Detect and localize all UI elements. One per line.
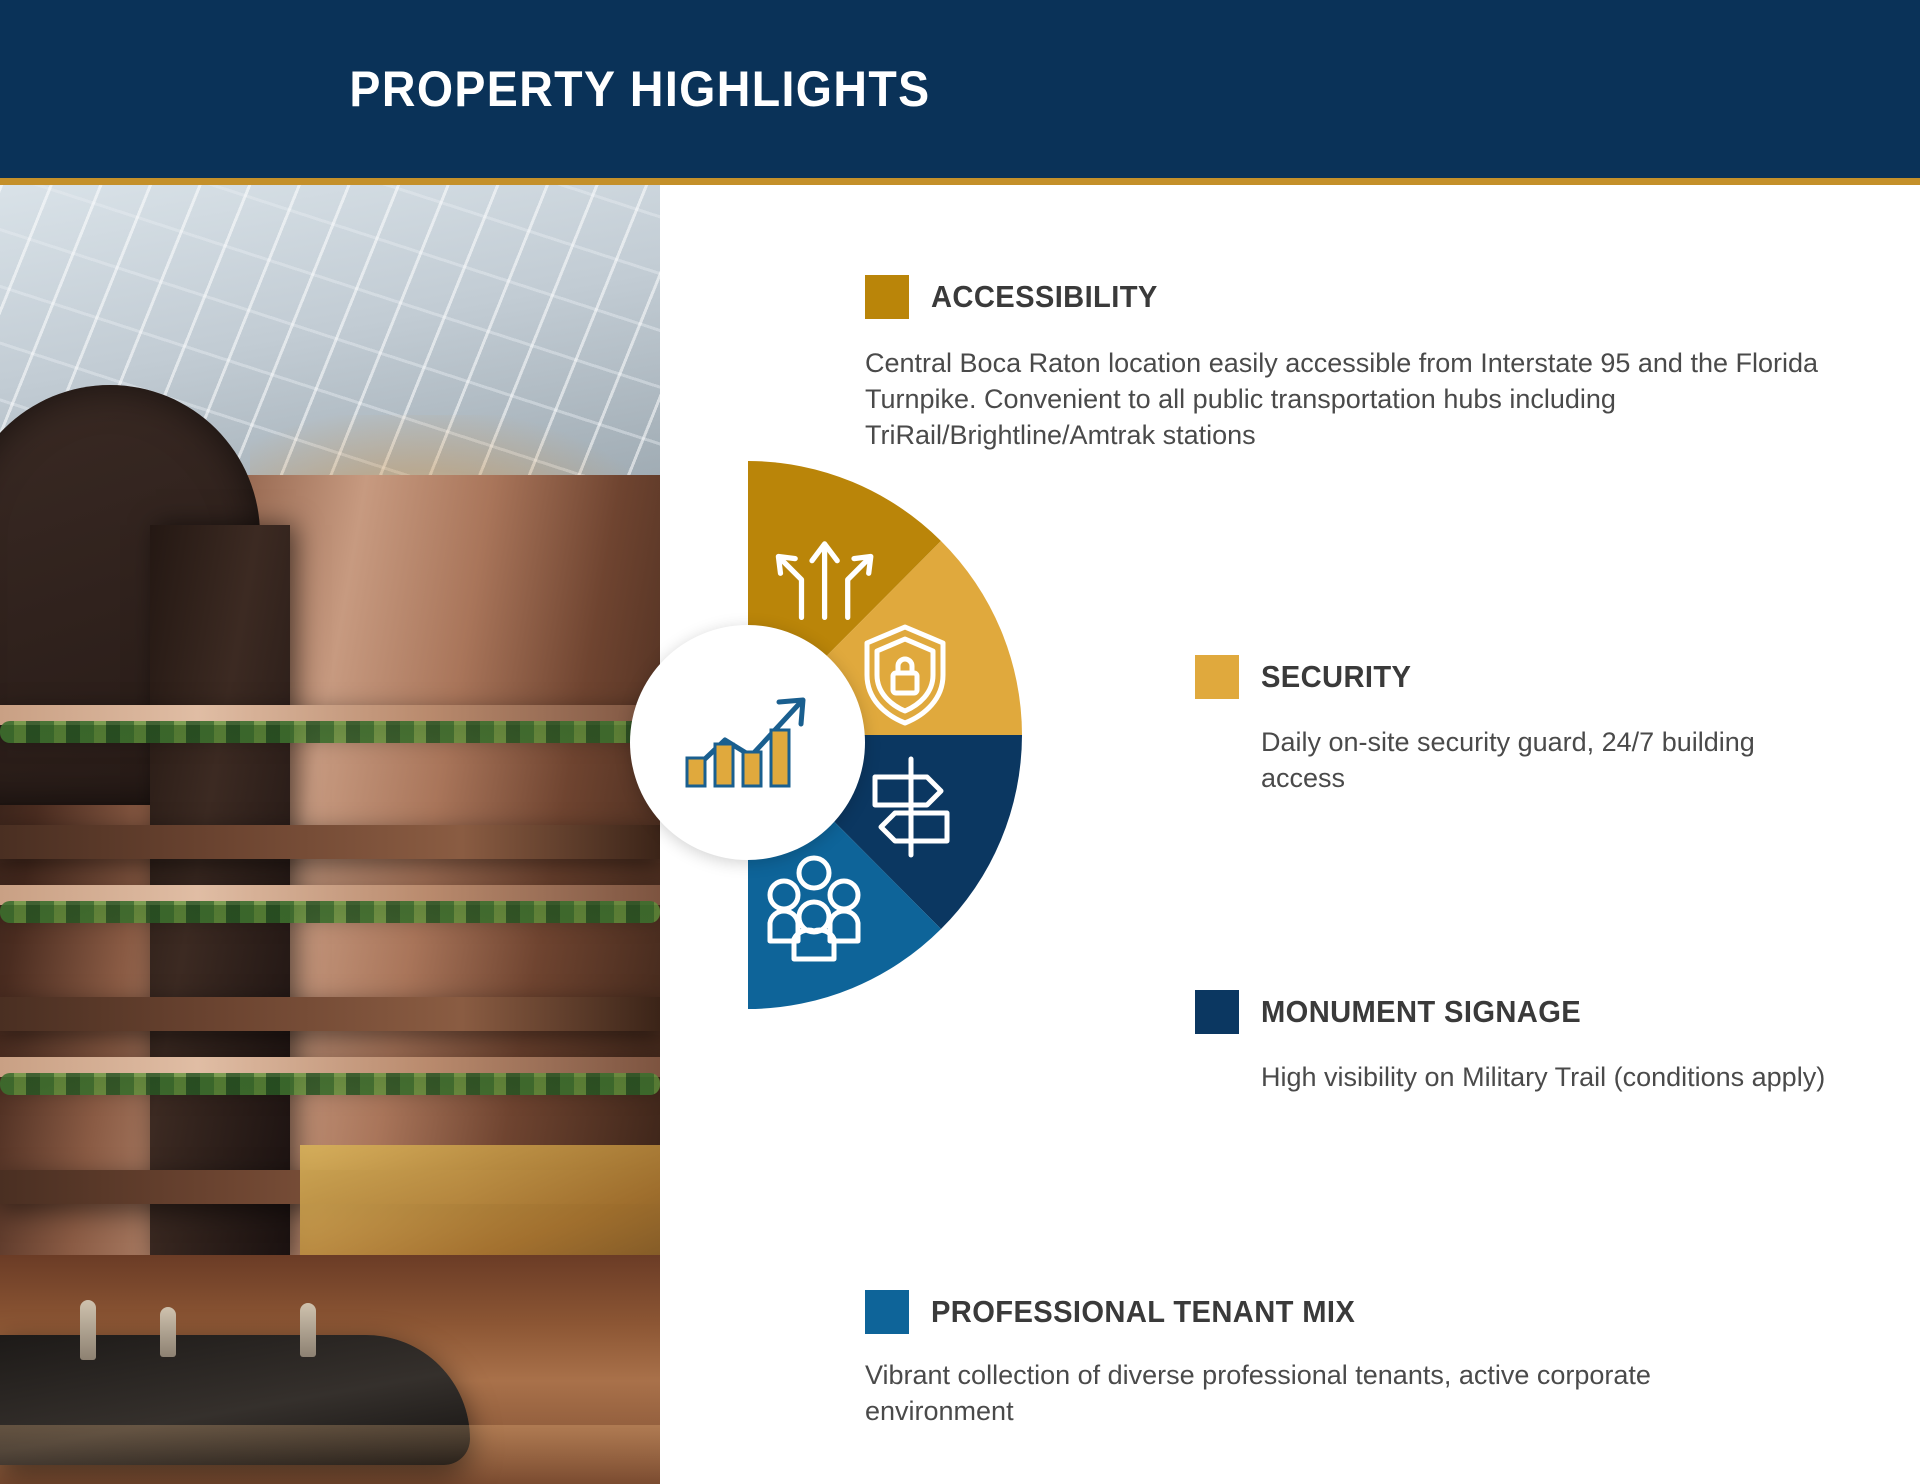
security-title: SECURITY <box>1261 659 1411 695</box>
highlight-block-accessibility: ACCESSIBILITY Central Boca Raton locatio… <box>865 275 1825 454</box>
page-header: PROPERTY HIGHLIGHTS <box>0 0 1920 178</box>
crane-sculpture <box>80 1300 96 1360</box>
balcony-floor <box>0 997 660 1031</box>
professional-tenant-mix-title: PROFESSIONAL TENANT MIX <box>931 1294 1355 1330</box>
status-badge <box>865 1290 909 1334</box>
accessibility-body: Central Boca Raton location easily acces… <box>865 346 1825 454</box>
people-group-icon <box>770 858 858 959</box>
signage-heading-row: MONUMENT SIGNAGE <box>1195 990 1835 1034</box>
security-body: Daily on-site security guard, 24/7 build… <box>1261 725 1835 797</box>
highlight-block-monument-signage: MONUMENT SIGNAGE High visibility on Mili… <box>1195 990 1835 1096</box>
crane-sculpture <box>300 1303 316 1357</box>
professional-tenant-mix-body: Vibrant collection of diverse profession… <box>865 1358 1765 1430</box>
highlight-block-security: SECURITY Daily on-site security guard, 2… <box>1195 655 1835 797</box>
balcony-planter <box>0 1073 660 1095</box>
monument-signage-title: MONUMENT SIGNAGE <box>1261 994 1581 1030</box>
building-atrium-photo <box>0 185 660 1484</box>
security-heading-row: SECURITY <box>1195 655 1835 699</box>
monument-signage-body: High visibility on Military Trail (condi… <box>1261 1060 1835 1096</box>
growth-bar-chart-icon <box>673 678 823 808</box>
tenant-heading-row: PROFESSIONAL TENANT MIX <box>865 1290 1765 1334</box>
balcony-planter <box>0 901 660 923</box>
crane-sculpture <box>160 1307 176 1357</box>
center-badge <box>630 625 865 860</box>
balcony-planter <box>0 721 660 743</box>
status-badge <box>1195 990 1239 1034</box>
status-badge <box>865 275 909 319</box>
accessibility-heading-row: ACCESSIBILITY <box>865 275 1825 319</box>
header-gold-rule <box>0 178 1920 185</box>
balcony-floor <box>0 825 660 859</box>
page-title: PROPERTY HIGHLIGHTS <box>45 0 1235 178</box>
status-badge <box>1195 655 1239 699</box>
highlights-radial-diagram <box>620 455 1180 1015</box>
highlight-block-professional-tenant-mix: PROFESSIONAL TENANT MIX Vibrant collecti… <box>865 1290 1765 1430</box>
accessibility-title: ACCESSIBILITY <box>931 279 1158 315</box>
floor-reflection <box>0 1425 660 1484</box>
